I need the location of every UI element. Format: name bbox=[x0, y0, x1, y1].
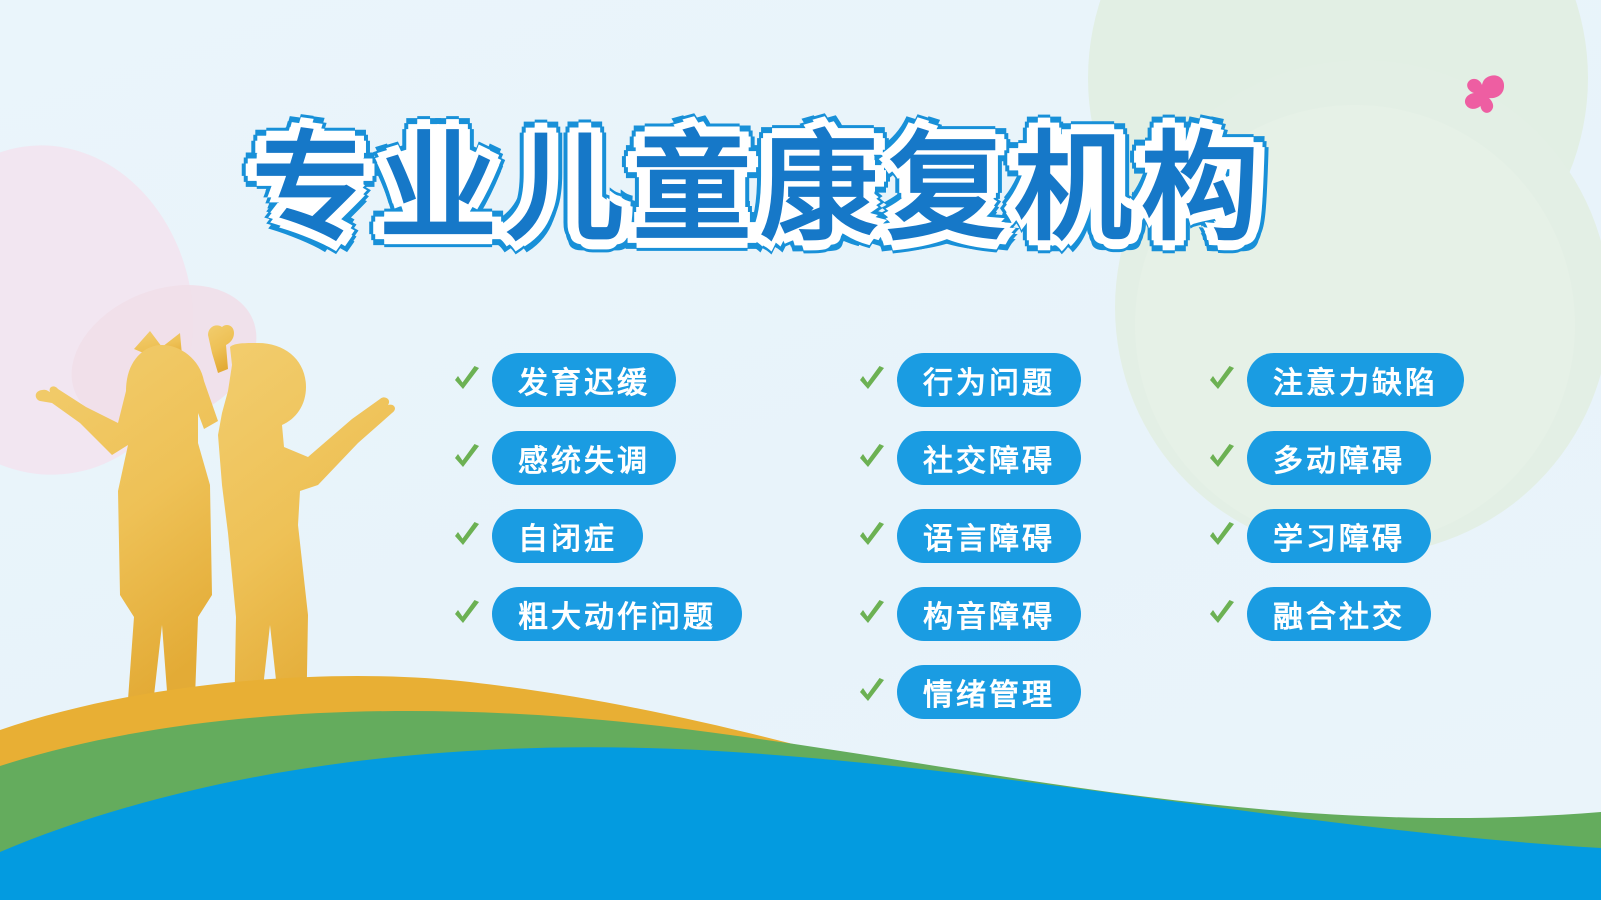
service-tag-pill[interactable]: 融合社交 bbox=[1247, 587, 1431, 641]
tag-row: 学习障碍 bbox=[1207, 508, 1464, 564]
service-tag-pill[interactable]: 感统失调 bbox=[492, 431, 676, 485]
tag-row: 社交障碍 bbox=[857, 430, 1081, 486]
check-icon bbox=[857, 365, 887, 395]
service-tag-pill[interactable]: 社交障碍 bbox=[897, 431, 1081, 485]
service-tag-pill[interactable]: 语言障碍 bbox=[897, 509, 1081, 563]
check-icon bbox=[452, 599, 482, 629]
tag-row: 发育迟缓 bbox=[452, 352, 742, 408]
check-icon bbox=[857, 599, 887, 629]
tag-row: 构音障碍 bbox=[857, 586, 1081, 642]
service-tag-pill[interactable]: 自闭症 bbox=[492, 509, 643, 563]
tag-row: 感统失调 bbox=[452, 430, 742, 486]
service-tag-pill[interactable]: 多动障碍 bbox=[1247, 431, 1431, 485]
service-tag-pill[interactable]: 行为问题 bbox=[897, 353, 1081, 407]
tag-row: 融合社交 bbox=[1207, 586, 1464, 642]
check-icon bbox=[452, 521, 482, 551]
tag-column-1: 发育迟缓感统失调自闭症粗大动作问题 bbox=[452, 352, 742, 664]
tag-row: 多动障碍 bbox=[1207, 430, 1464, 486]
service-tag-pill[interactable]: 发育迟缓 bbox=[492, 353, 676, 407]
check-icon bbox=[857, 443, 887, 473]
tag-row: 自闭症 bbox=[452, 508, 742, 564]
headline-container: 专业儿童康复机构 bbox=[0, 118, 1520, 260]
butterfly-icon bbox=[1455, 72, 1515, 124]
tag-row: 注意力缺陷 bbox=[1207, 352, 1464, 408]
check-icon bbox=[452, 443, 482, 473]
service-tag-pill[interactable]: 构音障碍 bbox=[897, 587, 1081, 641]
tag-row: 语言障碍 bbox=[857, 508, 1081, 564]
tag-row: 粗大动作问题 bbox=[452, 586, 742, 642]
check-icon bbox=[857, 521, 887, 551]
tag-row: 行为问题 bbox=[857, 352, 1081, 408]
service-tag-pill[interactable]: 注意力缺陷 bbox=[1247, 353, 1464, 407]
service-tag-pill[interactable]: 粗大动作问题 bbox=[492, 587, 742, 641]
check-icon bbox=[1207, 521, 1237, 551]
check-icon bbox=[452, 365, 482, 395]
check-icon bbox=[1207, 599, 1237, 629]
tag-column-3: 注意力缺陷多动障碍学习障碍融合社交 bbox=[1207, 352, 1464, 664]
check-icon bbox=[1207, 365, 1237, 395]
service-tag-pill[interactable]: 学习障碍 bbox=[1247, 509, 1431, 563]
promo-banner: 专业儿童康复机构 发育迟缓感统失调自闭症粗大动作问题 行为问题社交障碍语言障碍构… bbox=[0, 0, 1601, 900]
check-icon bbox=[1207, 443, 1237, 473]
bottom-wave-decoration bbox=[0, 670, 1601, 900]
page-title: 专业儿童康复机构 bbox=[252, 118, 1268, 260]
